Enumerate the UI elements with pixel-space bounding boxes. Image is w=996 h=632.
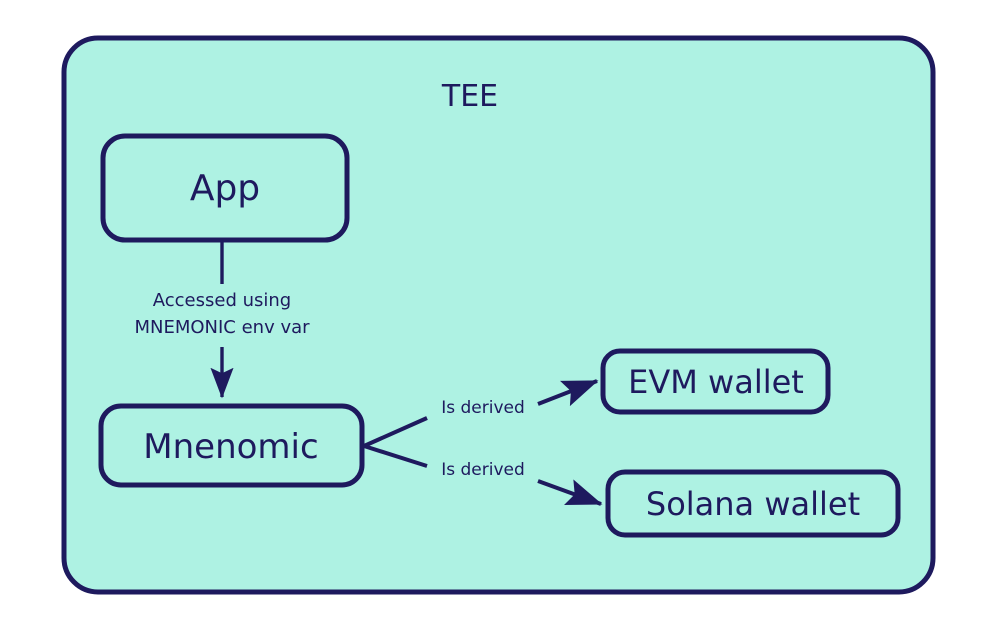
edge-mnemonic-to-evm-wallet-label: Is derived (441, 398, 525, 418)
node-solana-wallet-label: Solana wallet (646, 485, 860, 523)
node-solana-wallet[interactable]: Solana wallet (608, 472, 898, 535)
edge-app-to-mnemonic-label-line2: MNEMONIC env var (134, 317, 310, 338)
edge-mnemonic-to-solana-wallet-label: Is derived (441, 460, 525, 480)
node-app-label: App (190, 168, 260, 209)
node-app[interactable]: App (103, 136, 347, 240)
node-mnemonic[interactable]: Mnenomic (101, 406, 362, 485)
node-evm-wallet-label: EVM wallet (628, 363, 804, 401)
tee-container-title: TEE (441, 79, 498, 114)
node-evm-wallet[interactable]: EVM wallet (603, 351, 828, 412)
edge-app-to-mnemonic-label-line1: Accessed using (153, 290, 291, 311)
node-mnemonic-label: Mnenomic (143, 427, 318, 467)
diagram-root: TEE Accessed using MNEMONIC env var Is d… (0, 0, 996, 632)
tee-wallet-derivation-diagram: TEE Accessed using MNEMONIC env var Is d… (0, 0, 996, 632)
